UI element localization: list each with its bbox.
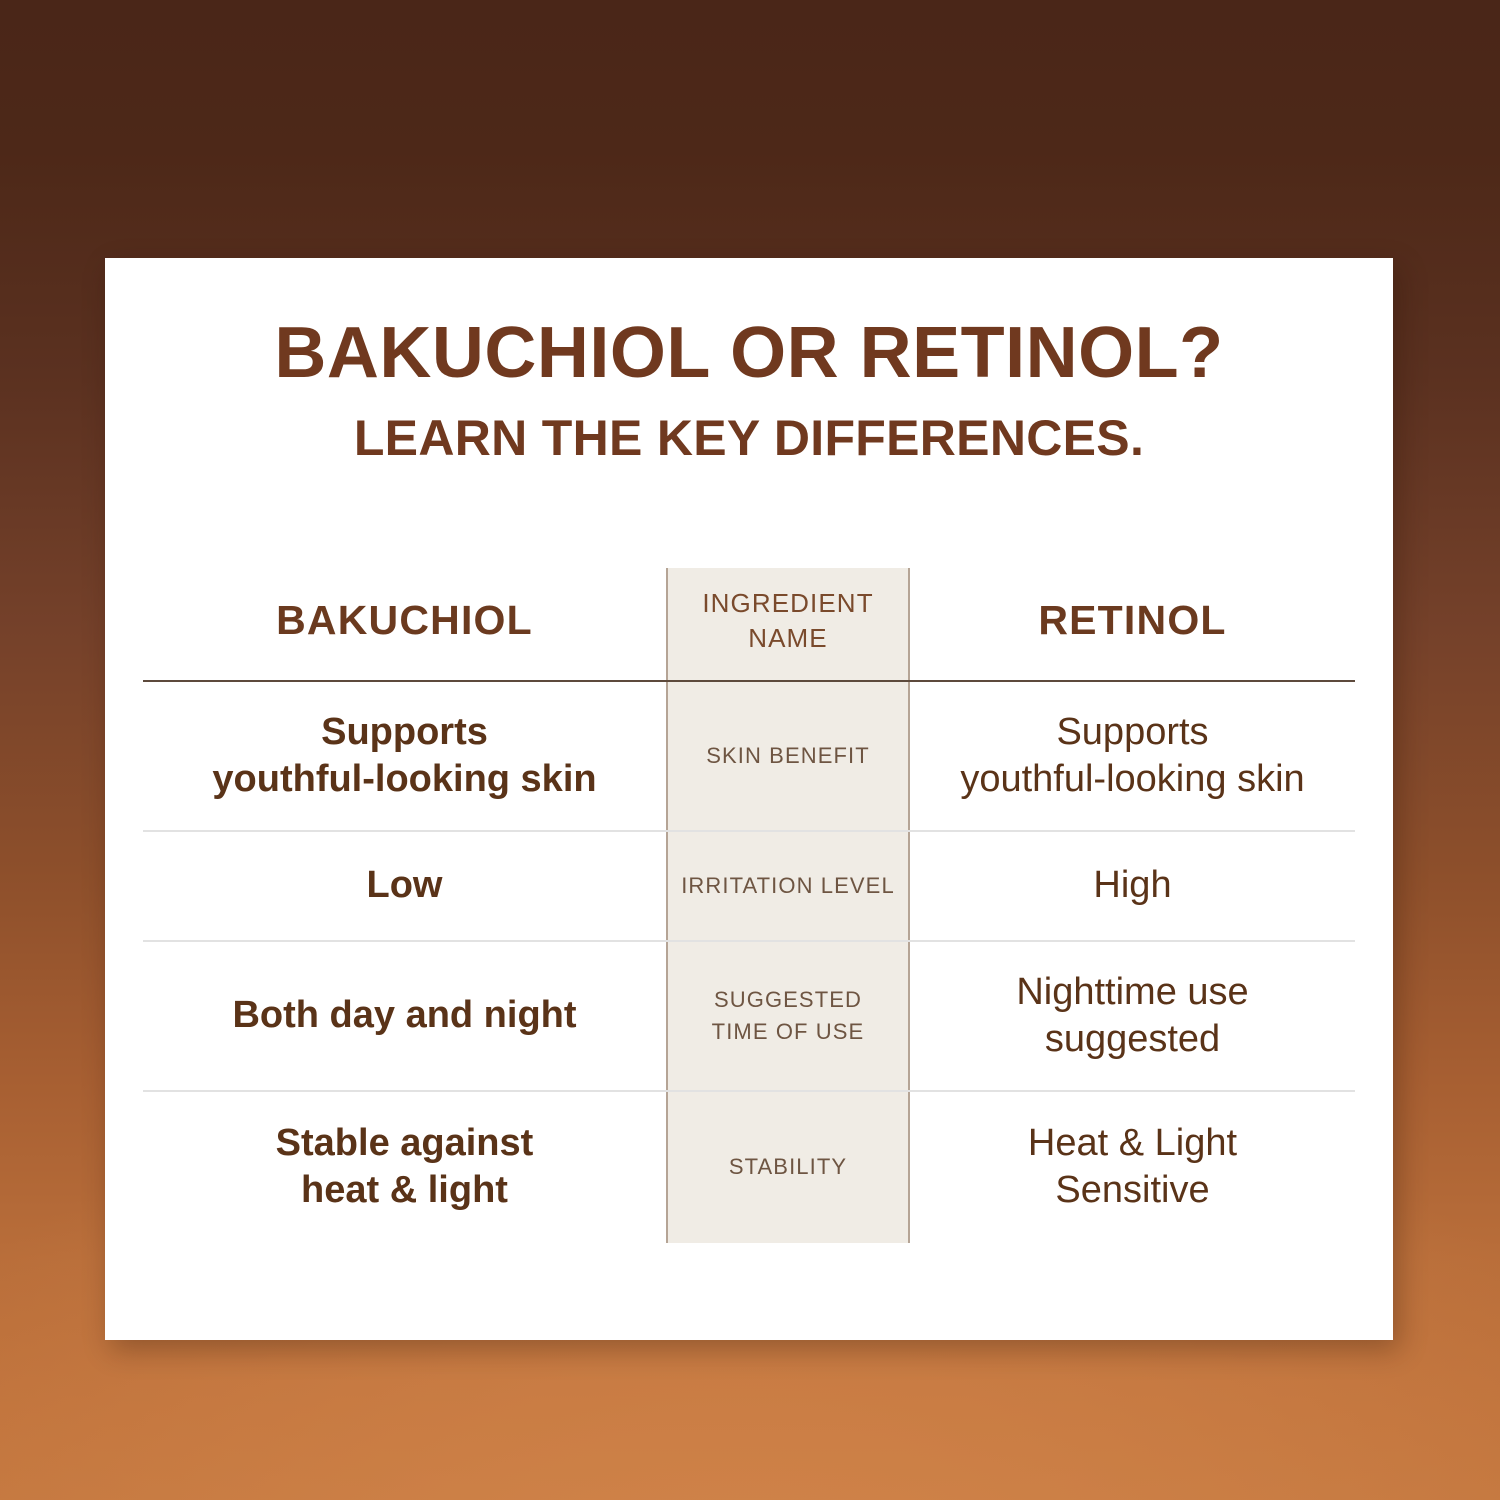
value-line1: Stable against xyxy=(143,1120,666,1167)
row-suggested-time-of-use-attribute-label: SUGGESTED TIME OF USE xyxy=(666,941,910,1091)
table-row: Low IRRITATION LEVEL High xyxy=(143,831,1355,941)
value-line1: Both day and night xyxy=(143,992,666,1039)
value-line2: heat & light xyxy=(143,1167,666,1214)
page-subtitle: LEARN THE KEY DIFFERENCES. xyxy=(105,412,1393,465)
row-irritation-level-attribute-label: IRRITATION LEVEL xyxy=(666,831,910,941)
page-background: BAKUCHIOL OR RETINOL? LEARN THE KEY DIFF… xyxy=(0,0,1500,1500)
row-stability-attribute-label: STABILITY xyxy=(666,1091,910,1242)
attribute-line1: SKIN BENEFIT xyxy=(666,740,910,772)
column-header-ingredient-name-line2: NAME xyxy=(666,621,910,656)
table-body: Supports youthful-looking skin SKIN BENE… xyxy=(143,681,1355,1242)
row-stability-bakuchiol-value: Stable against heat & light xyxy=(143,1091,666,1242)
row-irritation-level-bakuchiol-value: Low xyxy=(143,831,666,941)
row-suggested-time-of-use-retinol-value: Nighttime use suggested xyxy=(910,941,1355,1091)
row-skin-benefit-attribute-label: SKIN BENEFIT xyxy=(666,681,910,831)
value-line1: Low xyxy=(143,862,666,909)
value-line2: Sensitive xyxy=(910,1167,1355,1214)
page-title: BAKUCHIOL OR RETINOL? xyxy=(105,316,1393,392)
value-line2: youthful-looking skin xyxy=(910,756,1355,803)
row-skin-benefit-bakuchiol-value: Supports youthful-looking skin xyxy=(143,681,666,831)
card-headings: BAKUCHIOL OR RETINOL? LEARN THE KEY DIFF… xyxy=(105,258,1393,464)
table-header: BAKUCHIOL INGREDIENT NAME RETINOL xyxy=(143,568,1355,681)
comparison-table-container: BAKUCHIOL INGREDIENT NAME RETINOL Suppor… xyxy=(143,568,1355,1242)
column-header-ingredient-name-line1: INGREDIENT xyxy=(666,586,910,621)
value-line2: suggested xyxy=(910,1016,1355,1063)
row-irritation-level-retinol-value: High xyxy=(910,831,1355,941)
value-line1: Nighttime use xyxy=(910,969,1355,1016)
row-stability-retinol-value: Heat & Light Sensitive xyxy=(910,1091,1355,1242)
attribute-line1: IRRITATION LEVEL xyxy=(666,870,910,902)
table-header-row: BAKUCHIOL INGREDIENT NAME RETINOL xyxy=(143,568,1355,681)
attribute-line1: STABILITY xyxy=(666,1151,910,1183)
comparison-table: BAKUCHIOL INGREDIENT NAME RETINOL Suppor… xyxy=(143,568,1355,1242)
value-line1: Supports xyxy=(910,709,1355,756)
row-suggested-time-of-use-bakuchiol-value: Both day and night xyxy=(143,941,666,1091)
value-line1: High xyxy=(910,862,1355,909)
column-header-retinol: RETINOL xyxy=(910,568,1355,681)
column-header-bakuchiol: BAKUCHIOL xyxy=(143,568,666,681)
table-row: Supports youthful-looking skin SKIN BENE… xyxy=(143,681,1355,831)
value-line1: Supports xyxy=(143,709,666,756)
row-skin-benefit-retinol-value: Supports youthful-looking skin xyxy=(910,681,1355,831)
attribute-line1: SUGGESTED xyxy=(666,984,910,1016)
table-row: Stable against heat & light STABILITY He… xyxy=(143,1091,1355,1242)
column-header-ingredient-name: INGREDIENT NAME xyxy=(666,568,910,681)
attribute-line2: TIME OF USE xyxy=(666,1016,910,1048)
comparison-card: BAKUCHIOL OR RETINOL? LEARN THE KEY DIFF… xyxy=(105,258,1393,1340)
value-line2: youthful-looking skin xyxy=(143,756,666,803)
value-line1: Heat & Light xyxy=(910,1120,1355,1167)
table-row: Both day and night SUGGESTED TIME OF USE… xyxy=(143,941,1355,1091)
